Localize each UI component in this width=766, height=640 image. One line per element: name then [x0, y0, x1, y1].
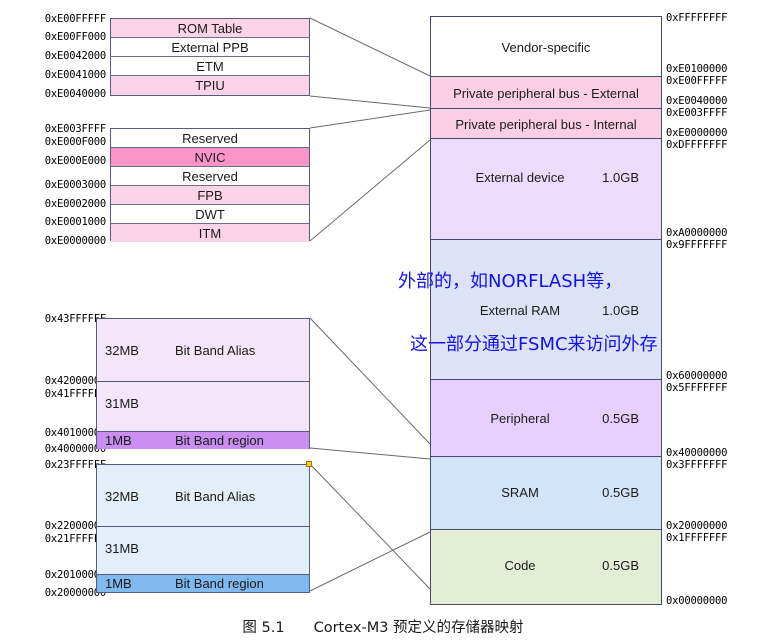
addr-right-0: 0xFFFFFFFF [666, 13, 727, 24]
addr-left-sbb-1: 0x22000000 [20, 521, 106, 532]
band-peripheral-alias-label: Bit Band Alias [175, 343, 255, 358]
addr-right-6: 0xDFFFFFFF [666, 140, 727, 151]
row-nvic: NVIC [111, 148, 309, 167]
table-ppb-external: ROM Table External PPB ETM TPIU [110, 18, 310, 96]
addr-left-ppbx-3: 0xE0041000 [20, 70, 106, 81]
region-external-ram: External RAM 1.0GB [431, 240, 661, 380]
row-etm: ETM [111, 57, 309, 76]
row-fpb: FPB [111, 186, 309, 205]
addr-left-ppbx-2: 0xE0042000 [20, 51, 106, 62]
addr-left-ppbi-1: 0xE000F000 [20, 137, 106, 148]
table-ppb-internal: Reserved NVIC Reserved FPB DWT ITM [110, 128, 310, 241]
band-peripheral-alias: 32MB Bit Band Alias [97, 319, 309, 382]
memory-map-figure: 0xE00FFFFF 0xE00FF000 0xE0042000 0xE0041… [0, 0, 766, 640]
addr-left-pbb-0: 0x43FFFFFF [20, 314, 106, 325]
addr-left-sbb-2: 0x21FFFFFF [20, 534, 106, 545]
region-external-ram-label: External RAM [431, 303, 609, 318]
region-sram-label: SRAM [431, 485, 609, 500]
region-sram-size: 0.5GB [602, 485, 639, 500]
band-peripheral-region: 1MB Bit Band region [97, 432, 309, 449]
row-reserved-upper: Reserved [111, 129, 309, 148]
region-ppb-external-label: Private peripheral bus - External [431, 86, 661, 101]
region-peripheral-label: Peripheral [431, 411, 609, 426]
band-sram-region-label: Bit Band region [175, 576, 264, 591]
region-code: Code 0.5GB [431, 530, 661, 604]
addr-right-1: 0xE0100000 [666, 64, 727, 75]
row-itm: ITM [111, 224, 309, 242]
region-external-device-size: 1.0GB [602, 170, 639, 185]
band-peripheral-alias-size: 32MB [105, 343, 139, 358]
addr-right-14: 0x1FFFFFFF [666, 533, 727, 544]
region-peripheral: Peripheral 0.5GB [431, 380, 661, 457]
memory-map-column: Vendor-specific Private peripheral bus -… [430, 16, 662, 605]
addr-left-ppbx-0: 0xE00FFFFF [20, 14, 106, 25]
addr-left-ppbi-4: 0xE0002000 [20, 199, 106, 210]
addr-left-ppbx-1: 0xE00FF000 [20, 32, 106, 43]
addr-left-pbb-3: 0x40100000 [20, 428, 106, 439]
addr-right-11: 0x40000000 [666, 448, 727, 459]
row-reserved-lower: Reserved [111, 167, 309, 186]
region-vendor-specific: Vendor-specific [431, 17, 661, 77]
addr-right-8: 0x9FFFFFFF [666, 240, 727, 251]
addr-right-4: 0xE003FFFF [666, 108, 727, 119]
band-sram-region-size: 1MB [105, 576, 132, 591]
row-dwt: DWT [111, 205, 309, 224]
addr-left-ppbi-6: 0xE0000000 [20, 236, 106, 247]
band-sram-31mb-size: 31MB [105, 541, 139, 556]
row-external-ppb: External PPB [111, 38, 309, 57]
addr-right-15: 0x00000000 [666, 596, 727, 607]
addr-right-3: 0xE0040000 [666, 96, 727, 107]
band-sram-alias-label: Bit Band Alias [175, 489, 255, 504]
band-sram-region: 1MB Bit Band region [97, 575, 309, 592]
addr-left-pbb-1: 0x42000000 [20, 376, 106, 387]
addr-left-sbb-4: 0x20000000 [20, 588, 106, 599]
addr-right-10: 0x5FFFFFFF [666, 383, 727, 394]
band-peripheral-region-size: 1MB [105, 433, 132, 448]
band-sram-31mb: 31MB [97, 527, 309, 575]
addr-left-ppbi-2: 0xE000E000 [20, 156, 106, 167]
addr-right-2: 0xE00FFFFF [666, 76, 727, 87]
region-external-ram-size: 1.0GB [602, 303, 639, 318]
selection-handle[interactable] [306, 461, 312, 467]
figure-caption: 图 5.1 Cortex-M3 预定义的存储器映射 [0, 616, 766, 637]
region-sram: SRAM 0.5GB [431, 457, 661, 530]
addr-left-sbb-0: 0x23FFFFFF [20, 460, 106, 471]
band-peripheral-31mb: 31MB [97, 382, 309, 432]
row-tpiu: TPIU [111, 76, 309, 95]
region-external-device: External device 1.0GB [431, 139, 661, 240]
region-external-device-label: External device [431, 170, 609, 185]
addr-left-pbb-2: 0x41FFFFFF [20, 389, 106, 400]
addr-right-12: 0x3FFFFFFF [666, 460, 727, 471]
addr-right-7: 0xA0000000 [666, 228, 727, 239]
addr-right-13: 0x20000000 [666, 521, 727, 532]
region-code-label: Code [431, 558, 609, 573]
table-peripheral-bitband: 32MB Bit Band Alias 31MB 1MB Bit Band re… [96, 318, 310, 449]
addr-left-pbb-4: 0x40000000 [20, 444, 106, 455]
addr-right-5: 0xE0000000 [666, 128, 727, 139]
annotation-norflash: 外部的，如NORFLASH等， [398, 267, 622, 293]
band-sram-alias-size: 32MB [105, 489, 139, 504]
addr-left-ppbx-4: 0xE0040000 [20, 89, 106, 100]
region-vendor-specific-label: Vendor-specific [431, 40, 661, 55]
annotation-fsmc: 这一部分通过FSMC来访问外存 [410, 330, 658, 356]
band-peripheral-region-label: Bit Band region [175, 433, 264, 448]
band-peripheral-31mb-size: 31MB [105, 396, 139, 411]
addr-left-ppbi-0: 0xE003FFFF [20, 124, 106, 135]
addr-left-ppbi-3: 0xE0003000 [20, 180, 106, 191]
table-sram-bitband: 32MB Bit Band Alias 31MB 1MB Bit Band re… [96, 464, 310, 593]
region-ppb-external: Private peripheral bus - External [431, 77, 661, 109]
region-ppb-internal: Private peripheral bus - Internal [431, 109, 661, 139]
addr-left-sbb-3: 0x20100000 [20, 570, 106, 581]
region-peripheral-size: 0.5GB [602, 411, 639, 426]
region-ppb-internal-label: Private peripheral bus - Internal [431, 117, 661, 132]
region-code-size: 0.5GB [602, 558, 639, 573]
addr-right-9: 0x60000000 [666, 371, 727, 382]
addr-left-ppbi-5: 0xE0001000 [20, 217, 106, 228]
row-rom-table: ROM Table [111, 19, 309, 38]
band-sram-alias: 32MB Bit Band Alias [97, 465, 309, 527]
